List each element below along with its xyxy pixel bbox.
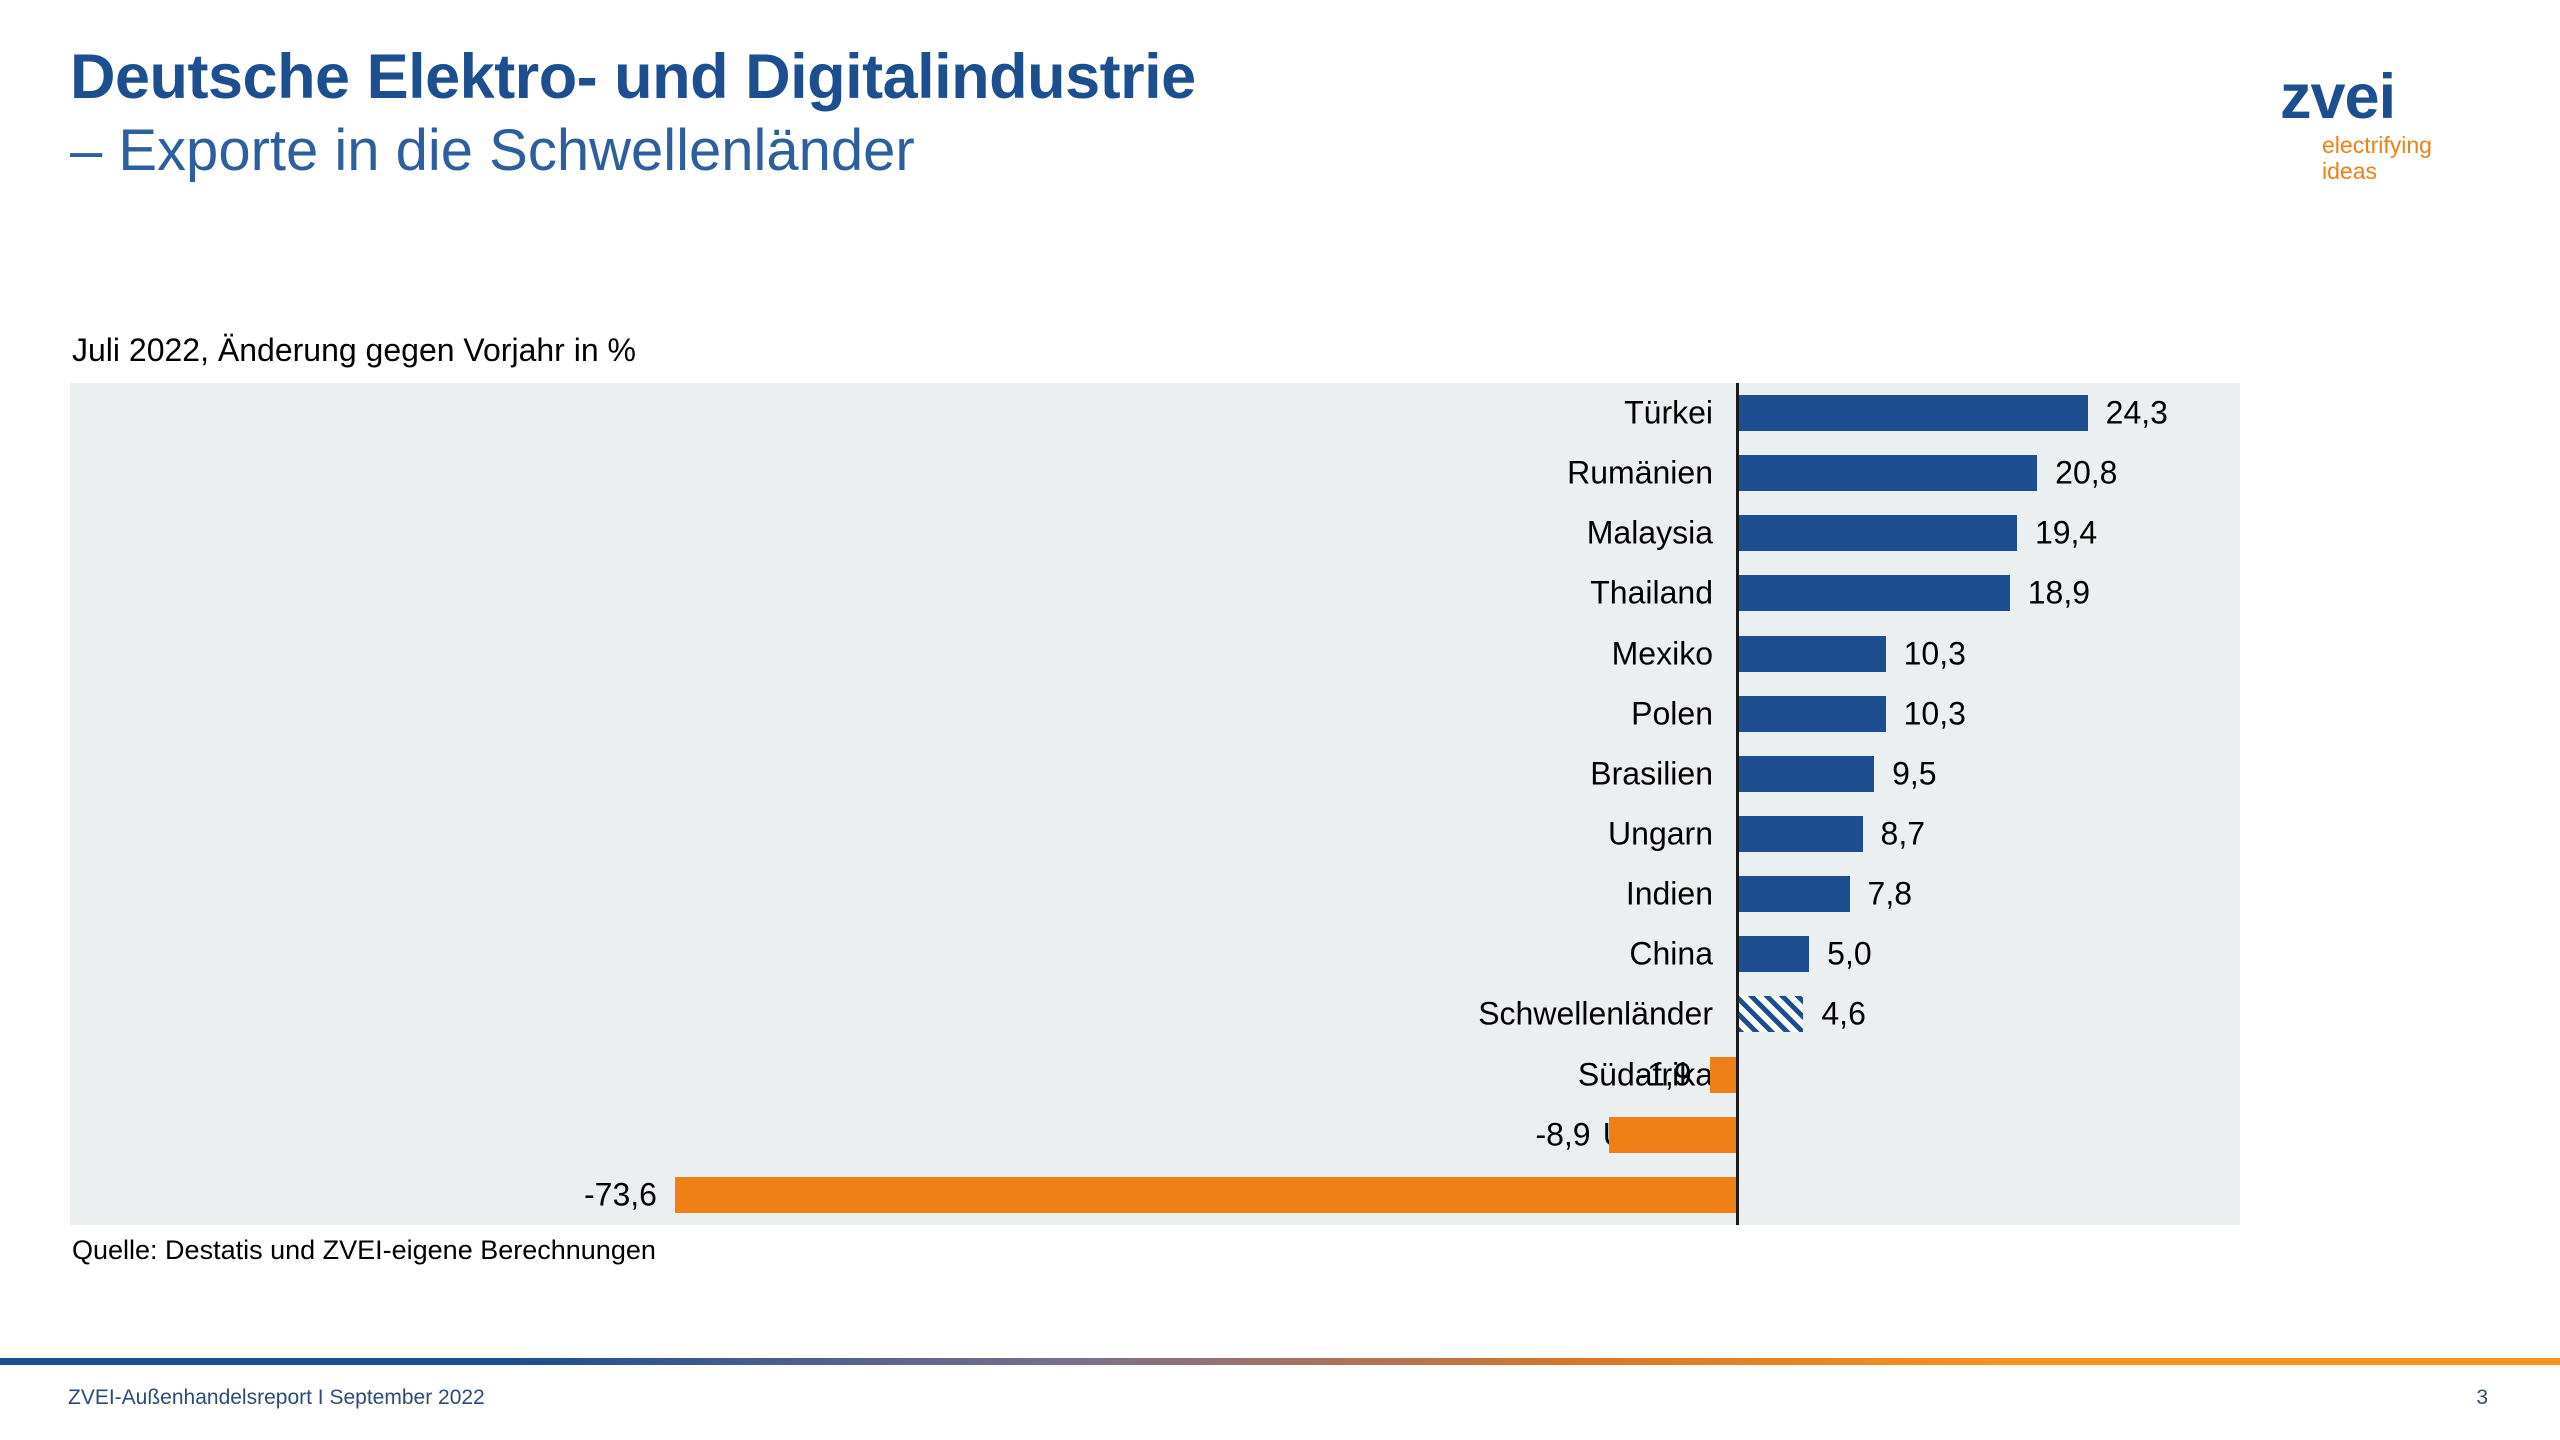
category-label: Brasilien	[1590, 755, 1737, 792]
bar	[1609, 1117, 1737, 1153]
bar-row: Ukraine-8,9	[70, 1105, 2240, 1165]
slide: Deutsche Elektro- und Digitalindustrie –…	[0, 0, 2560, 1440]
bar-row: Südafrika-1,9	[70, 1045, 2240, 1105]
bar	[1737, 515, 2017, 551]
footer-gradient-rule	[0, 1358, 2560, 1365]
chart-subtitle: Juli 2022, Änderung gegen Vorjahr in %	[72, 332, 636, 369]
footer-report-label: ZVEI-Außenhandelsreport I September 2022	[68, 1386, 485, 1410]
bar-row: Schwellenländer4,6	[70, 984, 2240, 1044]
bar	[1737, 455, 2037, 491]
title-line-2: – Exporte in die Schwellenländer	[70, 116, 1196, 186]
category-label: Thailand	[1590, 575, 1737, 612]
category-label: Schwellenländer	[1478, 996, 1737, 1033]
zvei-logo: zvei electrifying ideas	[2254, 68, 2484, 184]
bar-value-label: 10,3	[1886, 635, 1966, 672]
bar	[1737, 636, 1886, 672]
bar-row: Thailand18,9	[70, 563, 2240, 623]
bar-value-label: 9,5	[1874, 755, 1936, 792]
bar	[1737, 876, 1850, 912]
bar-row: Ungarn8,7	[70, 804, 2240, 864]
bar-row: Mexiko10,3	[70, 624, 2240, 684]
bar-value-label: -8,9	[1535, 1116, 1608, 1153]
bar-value-label: -1,9	[1636, 1056, 1709, 1093]
page-title: Deutsche Elektro- und Digitalindustrie –…	[70, 40, 1196, 186]
bar-value-label: 19,4	[2017, 515, 2097, 552]
bar-value-label: 4,6	[1803, 996, 1865, 1033]
category-label: Indien	[1626, 876, 1737, 913]
bar	[1710, 1057, 1737, 1093]
footer-page-number: 3	[2476, 1386, 2488, 1410]
bar-row: Malaysia19,4	[70, 503, 2240, 563]
logo-tagline: electrifying ideas	[2254, 133, 2484, 185]
bar	[1737, 395, 2088, 431]
category-label: Rumänien	[1567, 455, 1737, 492]
category-label: Mexiko	[1612, 635, 1737, 672]
category-label: Türkei	[1624, 395, 1737, 432]
bar	[675, 1177, 1737, 1213]
bar-value-label: 18,9	[2010, 575, 2090, 612]
zero-axis-line	[1736, 383, 1739, 1225]
category-label: Malaysia	[1587, 515, 1737, 552]
bar-value-label: -73,6	[584, 1176, 675, 1213]
logo-tagline-line-2: ideas	[2322, 159, 2484, 185]
bar	[1737, 696, 1886, 732]
bar-row: Russland-73,6	[70, 1165, 2240, 1225]
bar	[1737, 575, 2010, 611]
bar	[1737, 816, 1863, 852]
logo-wordmark: zvei	[2254, 68, 2484, 128]
bar-row: Polen10,3	[70, 684, 2240, 744]
bar-value-label: 5,0	[1809, 936, 1871, 973]
category-label: Ungarn	[1608, 816, 1737, 853]
source-note: Quelle: Destatis und ZVEI-eigene Berechn…	[72, 1235, 656, 1266]
bar-value-label: 8,7	[1863, 816, 1925, 853]
logo-tagline-line-1: electrifying	[2322, 133, 2484, 159]
category-label: Polen	[1631, 695, 1737, 732]
bar-value-label: 20,8	[2037, 455, 2117, 492]
bar-value-label: 7,8	[1850, 876, 1912, 913]
bar-row: Indien7,8	[70, 864, 2240, 924]
bar-row: Rumänien20,8	[70, 443, 2240, 503]
bar-row: China5,0	[70, 924, 2240, 984]
bar-rows: Türkei24,3Rumänien20,8Malaysia19,4Thaila…	[70, 383, 2240, 1225]
category-label: China	[1629, 936, 1737, 973]
bar-row: Türkei24,3	[70, 383, 2240, 443]
bar-value-label: 24,3	[2088, 395, 2168, 432]
title-line-1: Deutsche Elektro- und Digitalindustrie	[70, 40, 1196, 114]
bar	[1737, 996, 1803, 1032]
bar	[1737, 936, 1809, 972]
chart-plot-area: Türkei24,3Rumänien20,8Malaysia19,4Thaila…	[70, 383, 2240, 1225]
bar-row: Brasilien9,5	[70, 744, 2240, 804]
bar-value-label: 10,3	[1886, 695, 1966, 732]
bar	[1737, 756, 1874, 792]
